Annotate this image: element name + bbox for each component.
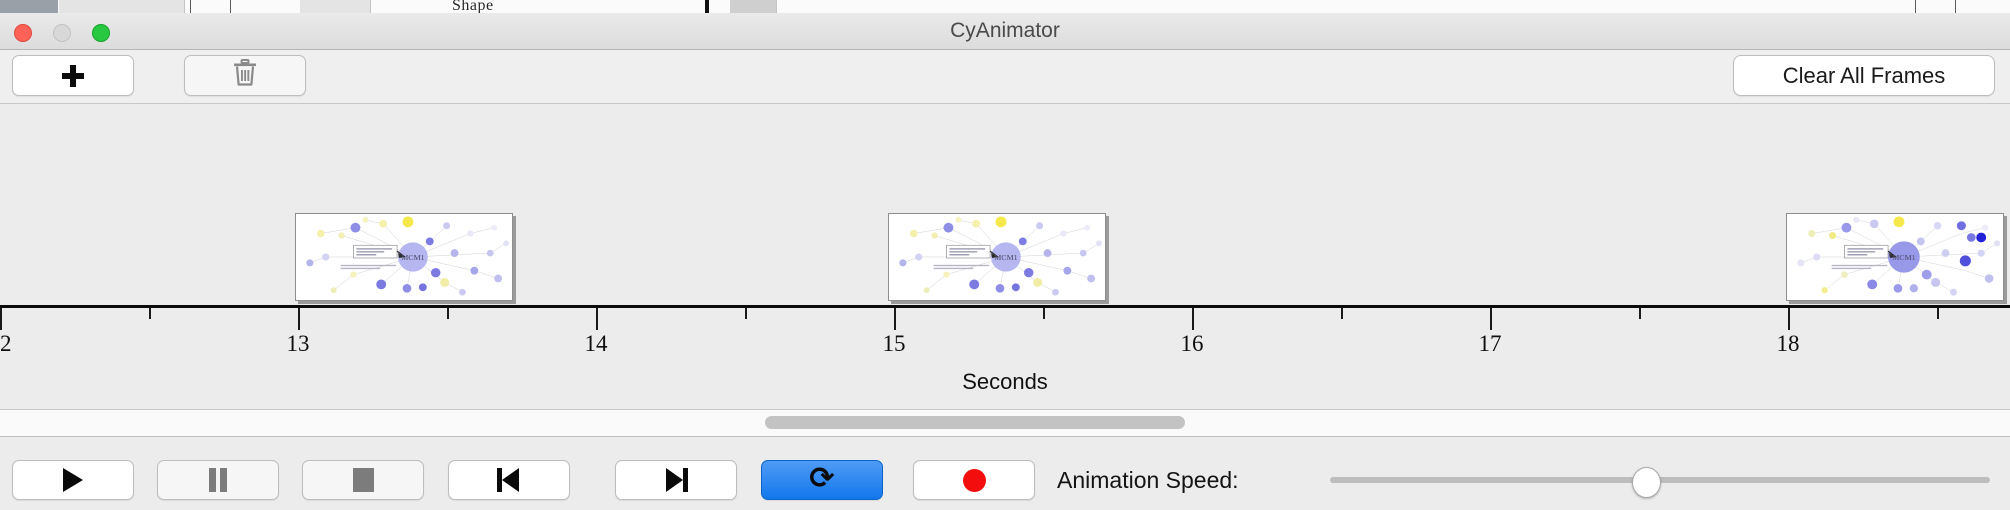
timeline-frame-thumbnail[interactable]: MCM1 [888,213,1106,301]
background-window-divider [1915,0,1916,13]
axis-tick-major [894,308,896,330]
background-window-label: Shape [452,0,494,14]
skip-back-button[interactable] [448,460,570,500]
animation-speed-label: Animation Speed: [1057,460,1239,500]
network-graph-thumbnail: MCM1 [889,214,1105,300]
axis-tick-label: 17 [1479,331,1502,357]
delete-frame-button[interactable] [184,55,306,96]
axis-tick-minor [1341,308,1343,319]
timeline-scrollbar-thumb[interactable] [765,416,1185,429]
axis-tick-minor [745,308,747,319]
background-window-divider [230,0,231,13]
window-title: CyAnimator [0,13,2010,49]
axis-tick-label: 12 [0,331,12,357]
axis-tick-major [1490,308,1492,330]
timeline-scrollbar[interactable] [0,410,2010,437]
record-icon [963,469,986,492]
background-window-strip: Shape [0,0,2010,14]
network-graph-thumbnail: MCM1 [1787,214,2003,300]
svg-text:MCM1: MCM1 [994,253,1017,262]
loop-icon: ⟳ [809,464,834,494]
axis-tick-label: 15 [883,331,906,357]
stop-icon [353,468,374,492]
background-window-tab [59,0,185,13]
axis-tick-major [298,308,300,330]
axis-tick-label: 14 [585,331,608,357]
skip-forward-icon [664,468,688,492]
plus-icon [62,65,84,87]
skip-back-icon [497,468,521,492]
timeline-frame-thumbnail[interactable]: MCM1 [1786,213,2004,301]
play-button[interactable] [12,460,134,500]
timeline-panel[interactable]: MCM1 [0,104,2010,410]
background-window-divider [1955,0,1956,13]
background-window-divider [705,0,709,13]
timeline-frame-thumbnail[interactable]: MCM1 [295,213,513,301]
trash-icon [232,59,258,92]
background-window-tab [300,0,371,13]
timeline-axis-line [0,305,2010,308]
pause-icon [208,468,228,492]
background-window-tab [730,0,777,13]
svg-text:MCM1: MCM1 [401,253,424,262]
add-frame-button[interactable] [12,55,134,96]
axis-tick-label: 16 [1181,331,1204,357]
stop-button[interactable] [302,460,424,500]
record-button[interactable] [913,460,1035,500]
axis-tick-major [596,308,598,330]
axis-tick-major [1788,308,1790,330]
slider-thumb[interactable] [1632,467,1661,498]
axis-title: Seconds [0,369,2010,395]
axis-tick-minor [1937,308,1939,319]
axis-tick-minor [447,308,449,319]
clear-all-frames-button[interactable]: Clear All Frames [1733,55,1995,96]
axis-tick-major [1192,308,1194,330]
axis-tick-minor [1639,308,1641,319]
background-window-dark-tab [0,0,58,13]
axis-tick-label: 18 [1777,331,1800,357]
pause-button[interactable] [157,460,279,500]
skip-forward-button[interactable] [615,460,737,500]
network-graph-thumbnail: MCM1 [296,214,512,300]
background-window-divider [190,0,191,13]
axis-tick-minor [149,308,151,319]
cyanimator-window: Shape CyAnimator Clear All Frames [0,0,2010,510]
play-icon [63,468,83,492]
axis-tick-label: 13 [287,331,310,357]
loop-button[interactable]: ⟳ [761,460,883,500]
axis-tick-major [0,308,2,330]
axis-tick-minor [1043,308,1045,319]
animation-speed-slider[interactable] [1330,460,1990,500]
title-bar: CyAnimator [0,13,2010,50]
svg-text:MCM1: MCM1 [1892,253,1915,262]
